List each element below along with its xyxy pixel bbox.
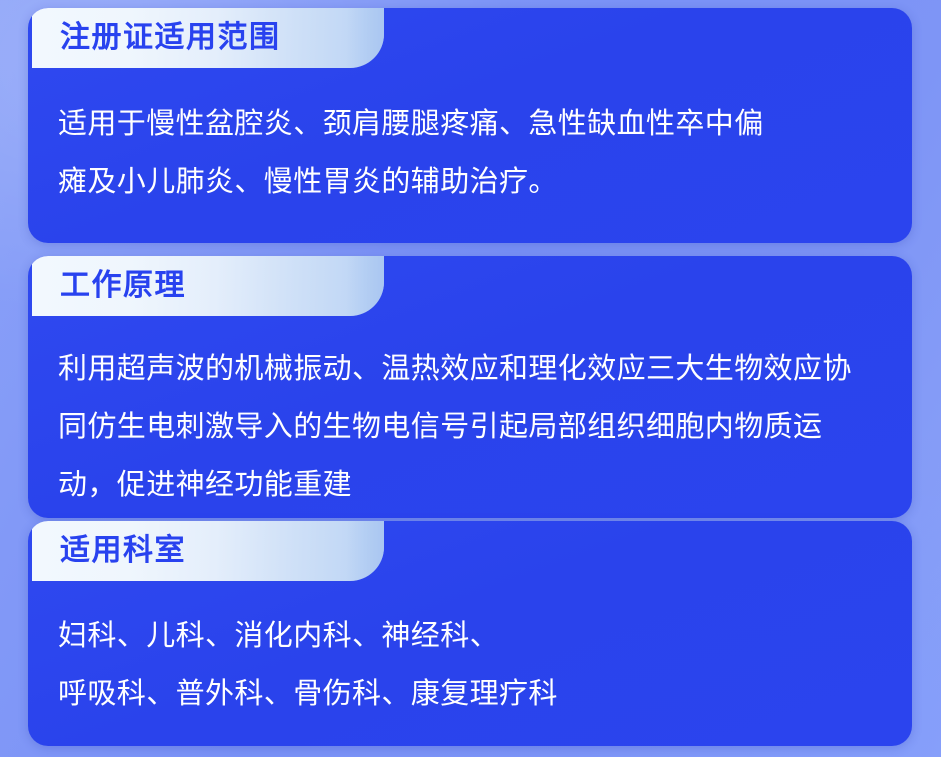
card-header-tab-scope: 注册证适用范围	[32, 8, 384, 68]
body-line: 呼吸科、普外科、骨伤科、康复理疗科	[58, 665, 884, 723]
card-body-departments: 妇科、儿科、消化内科、神经科、 呼吸科、普外科、骨伤科、康复理疗科	[58, 581, 884, 723]
card-body-principle: 利用超声波的机械振动、温热效应和理化效应三大生物效应协 同仿生电刺激导入的生物电…	[58, 316, 884, 514]
card-title-scope: 注册证适用范围	[60, 23, 281, 53]
product-info-page: 注册证适用范围 适用于慢性盆腔炎、颈肩腰腿疼痛、急性缺血性卒中偏 瘫及小儿肺炎、…	[0, 0, 941, 757]
info-card-scope: 注册证适用范围 适用于慢性盆腔炎、颈肩腰腿疼痛、急性缺血性卒中偏 瘫及小儿肺炎、…	[28, 8, 912, 243]
body-line: 妇科、儿科、消化内科、神经科、	[58, 607, 884, 665]
body-line: 动，促进神经功能重建	[58, 456, 884, 514]
card-title-principle: 工作原理	[60, 271, 186, 301]
body-line: 适用于慢性盆腔炎、颈肩腰腿疼痛、急性缺血性卒中偏	[58, 95, 884, 153]
info-card-principle: 工作原理 利用超声波的机械振动、温热效应和理化效应三大生物效应协 同仿生电刺激导…	[28, 256, 912, 518]
card-title-departments: 适用科室	[60, 536, 186, 566]
body-line: 利用超声波的机械振动、温热效应和理化效应三大生物效应协	[58, 340, 884, 398]
card-header-tab-principle: 工作原理	[32, 256, 384, 316]
body-line: 瘫及小儿肺炎、慢性胃炎的辅助治疗。	[58, 153, 884, 211]
info-card-departments: 适用科室 妇科、儿科、消化内科、神经科、 呼吸科、普外科、骨伤科、康复理疗科	[28, 521, 912, 746]
card-header-tab-departments: 适用科室	[32, 521, 384, 581]
card-body-scope: 适用于慢性盆腔炎、颈肩腰腿疼痛、急性缺血性卒中偏 瘫及小儿肺炎、慢性胃炎的辅助治…	[58, 68, 884, 211]
body-line: 同仿生电刺激导入的生物电信号引起局部组织细胞内物质运	[58, 398, 884, 456]
